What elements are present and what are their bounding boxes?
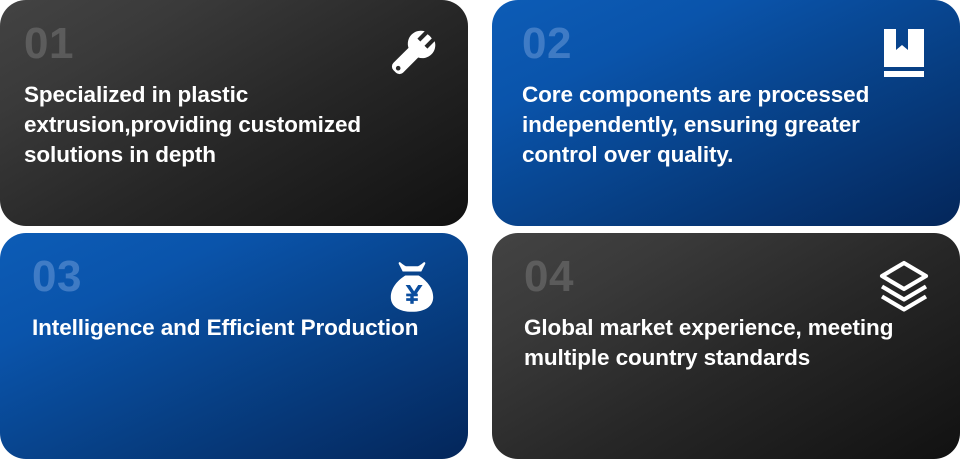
card-number-01: 01 <box>24 22 442 66</box>
feature-card-grid: 01 Specialized in plastic extrusion,prov… <box>0 0 960 459</box>
feature-card-03[interactable]: 03 Intelligence and Efficient Production <box>0 233 468 459</box>
card-title-03: Intelligence and Efficient Production <box>32 313 442 343</box>
card-number-04: 04 <box>524 255 934 299</box>
feature-card-01[interactable]: 01 Specialized in plastic extrusion,prov… <box>0 0 468 226</box>
card-title-02: Core components are processed independen… <box>522 80 934 170</box>
card-number-03: 03 <box>32 255 442 299</box>
card-title-01: Specialized in plastic extrusion,providi… <box>24 80 442 170</box>
card-number-02: 02 <box>522 22 934 66</box>
feature-card-04[interactable]: 04 Global market experience, meeting mul… <box>492 233 960 459</box>
feature-card-02[interactable]: 02 Core components are processed indepen… <box>492 0 960 226</box>
card-title-04: Global market experience, meeting multip… <box>524 313 934 373</box>
